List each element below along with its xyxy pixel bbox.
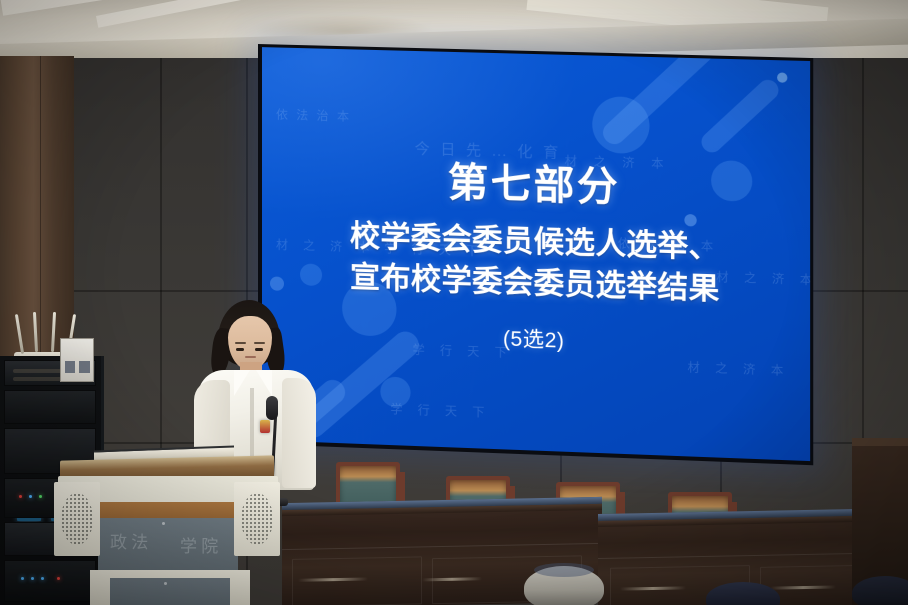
eye bbox=[236, 348, 244, 351]
slide-watermark: 今 日 先 … 化 育 bbox=[415, 137, 562, 162]
collar bbox=[256, 370, 272, 396]
speaker-grille-icon bbox=[241, 493, 273, 545]
speaker-grille-icon bbox=[61, 493, 93, 545]
decor-circle-icon bbox=[592, 96, 649, 154]
microphone-icon bbox=[266, 396, 278, 420]
projection-screen: 依 法 治 本 今 日 先 … 化 育 材 之 济 本 学 行 天 下 材 之 … bbox=[258, 44, 813, 465]
desk-seam bbox=[282, 543, 602, 550]
eyebrow bbox=[235, 342, 246, 344]
podium-screw bbox=[164, 582, 167, 585]
status-led-icon bbox=[29, 495, 32, 498]
rack-unit bbox=[4, 390, 96, 424]
audience-head bbox=[852, 576, 908, 605]
screen-bezel: 依 法 治 本 今 日 先 … 化 育 材 之 济 本 学 行 天 下 材 之 … bbox=[258, 44, 813, 465]
status-led-icon bbox=[19, 495, 22, 498]
side-desk-top bbox=[852, 438, 908, 446]
podium: 政 法 学 院 bbox=[42, 452, 292, 605]
podium-speaker-right bbox=[234, 482, 280, 556]
slide-watermark: 学 行 天 下 bbox=[390, 400, 490, 421]
scene-root: 依 法 治 本 今 日 先 … 化 育 材 之 济 本 学 行 天 下 材 之 … bbox=[0, 0, 908, 605]
podium-base-panel bbox=[110, 578, 230, 605]
slide-text-block: 第七部分 校学委会委员候选人选举、 宣布校学委会委员选举结果 (5选2) bbox=[262, 155, 810, 363]
podium-base bbox=[90, 570, 250, 605]
card-thumbnail-icon bbox=[65, 361, 75, 373]
collar bbox=[234, 370, 250, 396]
audience-head bbox=[524, 566, 604, 605]
mouth bbox=[245, 356, 256, 358]
status-led-icon bbox=[21, 577, 24, 580]
decor-bar-icon bbox=[697, 76, 782, 157]
presentation-slide: 依 法 治 本 今 日 先 … 化 育 材 之 济 本 学 行 天 下 材 之 … bbox=[262, 47, 810, 461]
status-led-icon bbox=[31, 577, 34, 580]
card-thumbnail-icon bbox=[79, 361, 90, 373]
ceiling-beam bbox=[96, 0, 246, 28]
podium-front-panel: 政 法 学 院 bbox=[98, 518, 238, 578]
podium-speaker-left bbox=[54, 482, 100, 556]
eyebrow bbox=[254, 342, 265, 344]
slide-subtitle: (5选2) bbox=[262, 314, 810, 363]
rack-info-card bbox=[60, 338, 94, 382]
decor-dot-icon bbox=[777, 72, 787, 82]
slide-watermark: 依 法 治 本 bbox=[276, 105, 352, 124]
eye bbox=[255, 348, 263, 351]
podium-emblem-left: 政 法 bbox=[110, 528, 148, 553]
podium-screw bbox=[162, 522, 165, 525]
presenter-badge bbox=[260, 420, 270, 433]
podium-emblem-right: 学 院 bbox=[180, 532, 218, 557]
